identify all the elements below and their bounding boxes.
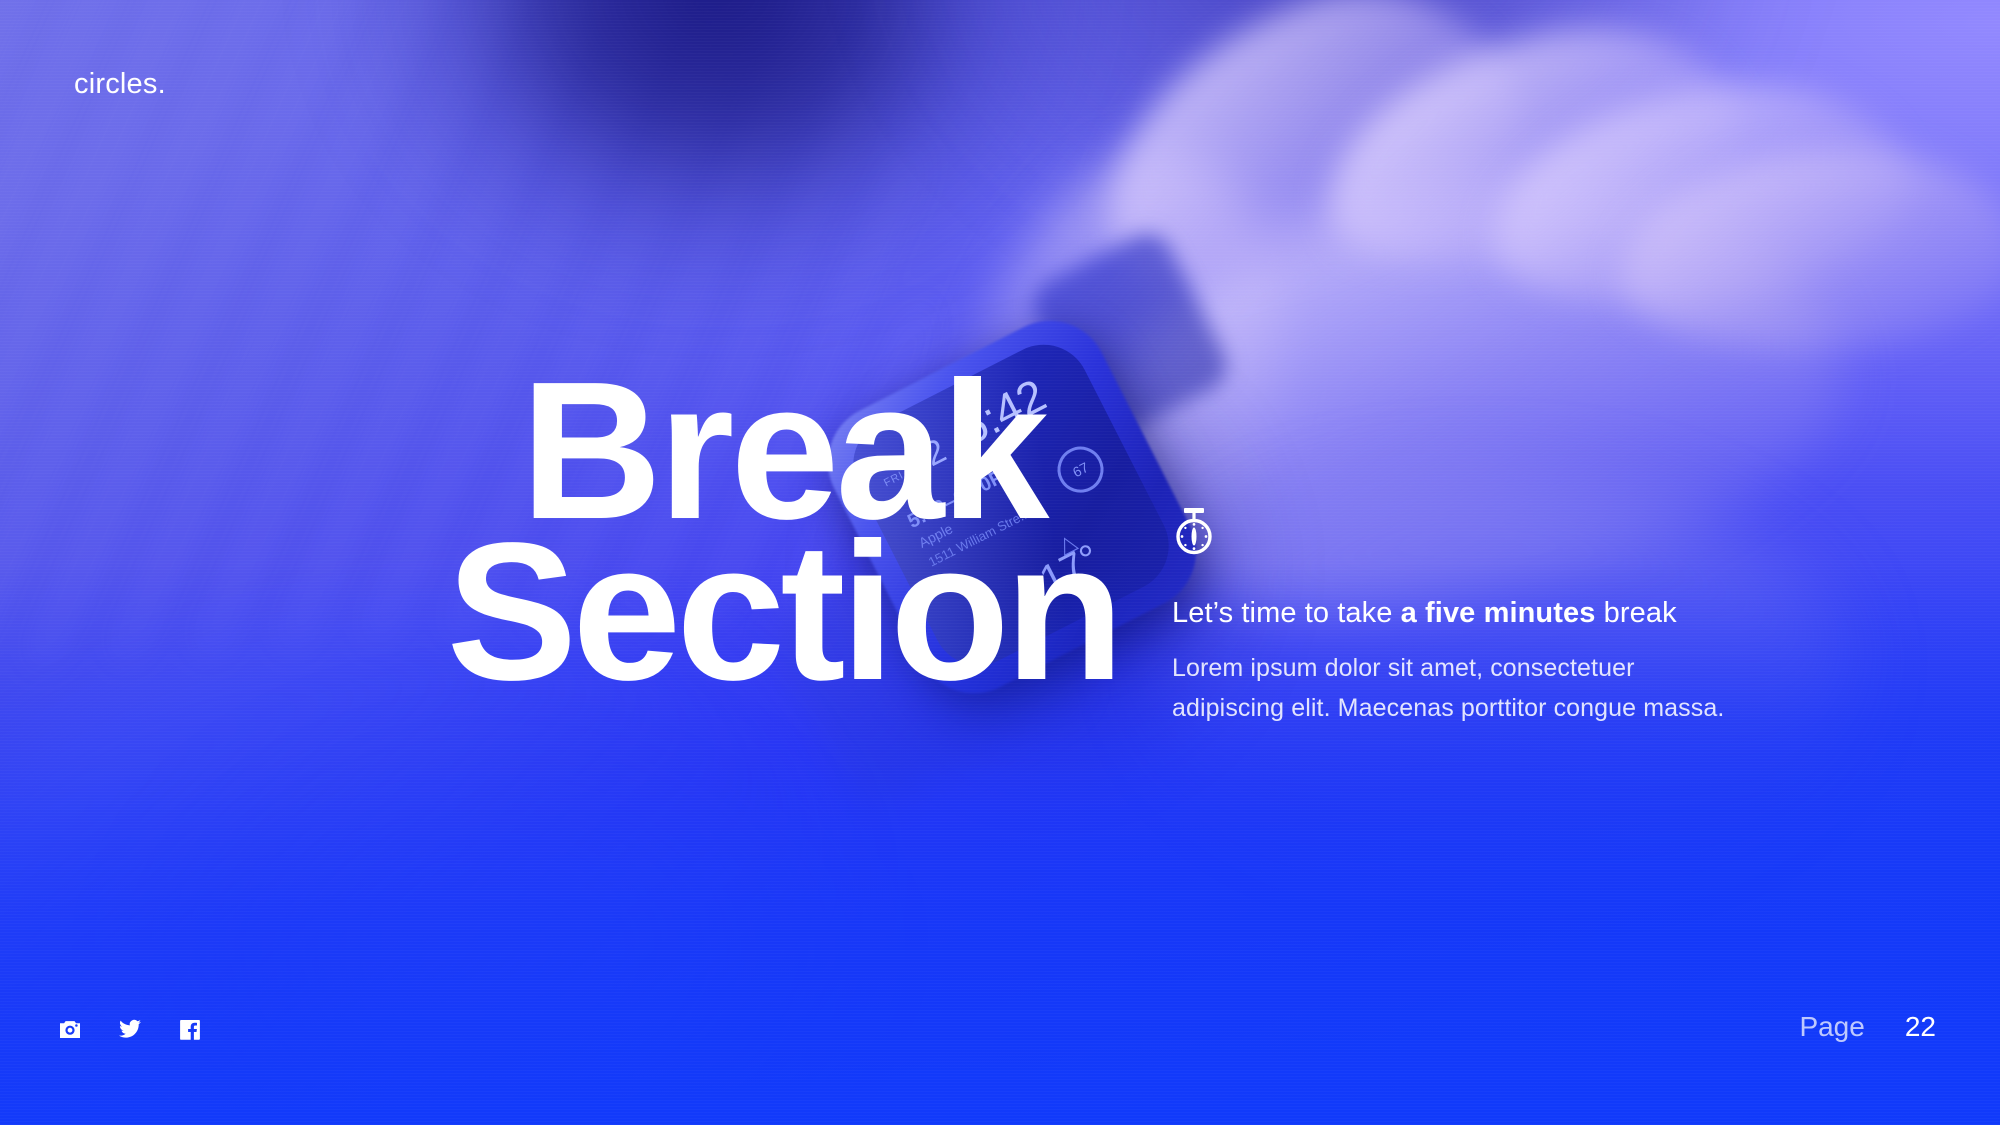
break-headline-emphasis: a five minutes: [1401, 597, 1596, 629]
break-headline: Let’s time to take a five minutes break: [1172, 595, 1752, 631]
page-number: 22: [1905, 1011, 1936, 1043]
slide-root: FRI 12 5:42 5:00–6:00PM Apple 1511 Willi…: [0, 0, 2000, 1125]
headline-line-2: Section: [258, 532, 1308, 693]
break-headline-suffix: break: [1595, 597, 1676, 629]
twitter-icon[interactable]: [118, 1017, 142, 1041]
slide-content: circles. Break Section: [0, 0, 2000, 1125]
instagram-icon[interactable]: [58, 1017, 82, 1041]
social-links: [58, 1017, 202, 1041]
break-headline-prefix: Let’s time to take: [1172, 597, 1401, 629]
page-title: Break Section: [258, 371, 1308, 692]
break-info-panel: Let’s time to take a five minutes break …: [1172, 508, 1752, 728]
stopwatch-icon: [1172, 508, 1752, 561]
brand-logo[interactable]: circles.: [74, 68, 166, 101]
page-indicator: Page 22: [1799, 1011, 1936, 1043]
page-label: Page: [1799, 1011, 1864, 1043]
facebook-icon[interactable]: [178, 1017, 202, 1041]
break-description: Lorem ipsum dolor sit amet, consectetuer…: [1172, 649, 1728, 728]
